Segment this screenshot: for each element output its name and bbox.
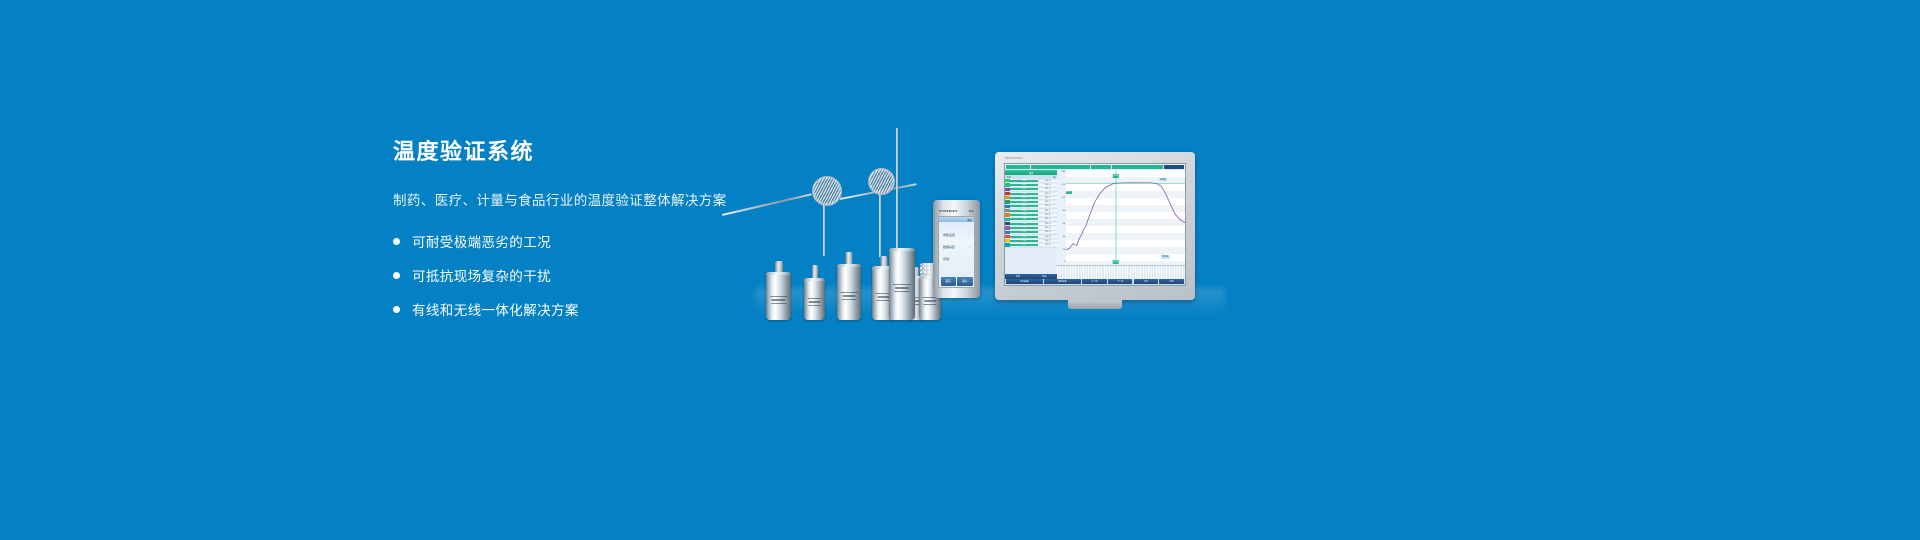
chart-phase-label: 降温段	[1161, 255, 1169, 259]
monitor-display: PHOENIKX 通道 名称 值 T-01121.4T	[995, 152, 1195, 300]
channel-name: T-03	[1010, 188, 1038, 190]
software-body: 通道 名称 值 T-01121.4T-02121.6T-03121.3T-041…	[1005, 170, 1185, 279]
handheld-menu-label: 参数设置	[943, 233, 955, 237]
topbar-tab-settings[interactable]	[1112, 165, 1163, 170]
channel-panel: 通道 名称 值 T-01121.4T-02121.6T-03121.3T-041…	[1005, 170, 1057, 279]
channel-name: T-10	[1010, 218, 1038, 220]
channel-name: T-15	[1010, 240, 1038, 242]
chart-y-axis: 140120100806040200	[1057, 170, 1066, 265]
plot-main: 140120100806040200 A-点B-点121.2灭菌段降温段	[1057, 170, 1185, 265]
channel-name: T-04	[1010, 193, 1038, 195]
validation-software-screen[interactable]: 通道 名称 值 T-01121.4T-02121.6T-03121.3T-041…	[1004, 163, 1186, 286]
channel-row[interactable]: T-16121.5	[1005, 243, 1057, 247]
channel-panel-header-label: 通道	[1029, 171, 1033, 175]
monitor-brand-label: PHOENIKX	[1005, 156, 1023, 160]
handheld-brand-row: PHOENIKX M1	[938, 209, 975, 213]
topbar-tab-curve[interactable]	[1031, 165, 1090, 170]
channel-value: 121.5	[1038, 223, 1057, 225]
channel-value: 121.2	[1038, 231, 1057, 233]
topbar-tab-report[interactable]	[1091, 165, 1111, 170]
channel-value: 121.6	[1038, 227, 1057, 229]
chart-phase-label: 灭菌段	[1159, 178, 1167, 182]
software-toolbar: 开始采集暂停采集上一页下一页打印导出	[1005, 279, 1185, 286]
channel-value: 121.5	[1038, 193, 1057, 195]
handheld-menu-label: 系统	[943, 257, 949, 261]
bullet-label: 有线和无线一体化解决方案	[412, 299, 579, 319]
long-needle-probe	[896, 128, 898, 258]
channel-value: 121.2	[1038, 197, 1057, 199]
channel-value: 121.3	[1038, 218, 1057, 220]
channel-value: 121.6	[1038, 184, 1057, 186]
chart-cursor-label: A-点	[1113, 174, 1119, 178]
bullet-dot-icon	[393, 238, 400, 245]
channel-name: T-01	[1010, 180, 1038, 182]
monitor-stand	[1068, 300, 1122, 309]
handheld-menu-item[interactable]: 系统 ›	[943, 257, 970, 261]
bullet-label: 可抵抗现场复杂的干扰	[412, 265, 551, 285]
toolbar-button[interactable]: 下一页	[1108, 279, 1133, 284]
channel-value: 121.3	[1038, 188, 1057, 190]
handheld-confirm-button[interactable]: 确认	[957, 277, 972, 286]
toolbar-button[interactable]: 暂停采集	[1044, 279, 1081, 284]
handheld-menu-list: 参数设置 › 数据采集 › 系统 ›	[939, 222, 974, 261]
chart-plot-area[interactable]: A-点B-点121.2灭菌段降温段	[1066, 170, 1185, 265]
data-logger-6	[889, 248, 915, 320]
channel-name: T-12	[1010, 227, 1038, 229]
chart-cursor-label: B-点	[1113, 260, 1119, 264]
handheld-model-label: M1	[969, 209, 974, 213]
channel-name: T-14	[1010, 236, 1038, 238]
handheld-menu-item[interactable]: 数据采集 ›	[943, 245, 970, 249]
channel-value: 121.4	[1038, 236, 1057, 238]
chart-value-marker: 121.2	[1066, 191, 1072, 194]
channel-name: T-13	[1010, 231, 1038, 233]
toolbar-button[interactable]: 开始采集	[1006, 279, 1043, 284]
bullet-label: 可耐受极端恶劣的工况	[412, 231, 551, 251]
channel-list[interactable]: T-01121.4T-02121.6T-03121.3T-04121.5T-05…	[1005, 179, 1057, 274]
handheld-reader-device[interactable]: PHOENIKX M1 菜单 参数设置 › 数据采集 › 系统 ›	[933, 200, 980, 298]
handheld-screen[interactable]: 菜单 参数设置 › 数据采集 › 系统 › 返回 确认	[938, 216, 975, 288]
chevron-right-icon: ›	[969, 245, 970, 249]
handheld-menu-item[interactable]: 参数设置 ›	[943, 233, 970, 237]
handheld-screen-title: 菜单	[967, 218, 972, 222]
handheld-back-button[interactable]: 返回	[941, 277, 956, 286]
channel-value: 121.7	[1038, 240, 1057, 242]
plot-wrapper: 140120100806040200 A-点B-点121.2灭菌段降温段	[1057, 170, 1185, 279]
channel-name: T-06	[1010, 201, 1038, 203]
channel-name: T-16	[1010, 244, 1038, 246]
channel-name: T-09	[1010, 214, 1038, 216]
temperature-curve	[1066, 170, 1185, 265]
product-photo-group: PHOENIKX M1 菜单 参数设置 › 数据采集 › 系统 ›	[700, 120, 1240, 320]
bullet-dot-icon	[393, 272, 400, 279]
toolbar-button[interactable]: 上一页	[1082, 279, 1107, 284]
channel-value: 121.4	[1038, 180, 1057, 182]
handheld-menu-label: 数据采集	[943, 245, 955, 249]
data-logger-1	[766, 272, 791, 320]
channel-name: T-07	[1010, 205, 1038, 207]
channel-value: 121.8	[1038, 214, 1057, 216]
channel-value: 121.7	[1038, 201, 1057, 203]
topbar-exit-button[interactable]	[1164, 165, 1184, 170]
data-logger-3	[837, 264, 861, 320]
topbar-tab-channels[interactable]	[1006, 165, 1030, 170]
handheld-brand-label: PHOENIKX	[939, 209, 958, 213]
toolbar-button[interactable]: 打印	[1134, 279, 1159, 284]
data-logger-2	[804, 278, 825, 320]
channel-value: 121.5	[1038, 244, 1057, 246]
chevron-right-icon: ›	[969, 233, 970, 237]
handheld-button-bar: 返回 确认	[939, 275, 974, 287]
channel-name: T-08	[1010, 210, 1038, 212]
chevron-right-icon: ›	[969, 257, 970, 261]
channel-value: 121.1	[1038, 210, 1057, 212]
channel-value: 121.4	[1038, 205, 1057, 207]
channel-name: T-02	[1010, 184, 1038, 186]
chart-x-axis-strip	[1057, 265, 1185, 279]
toolbar-button[interactable]: 导出	[1159, 279, 1184, 284]
channel-name: T-05	[1010, 197, 1038, 199]
bullet-dot-icon	[393, 306, 400, 313]
channel-name: T-11	[1010, 223, 1038, 225]
